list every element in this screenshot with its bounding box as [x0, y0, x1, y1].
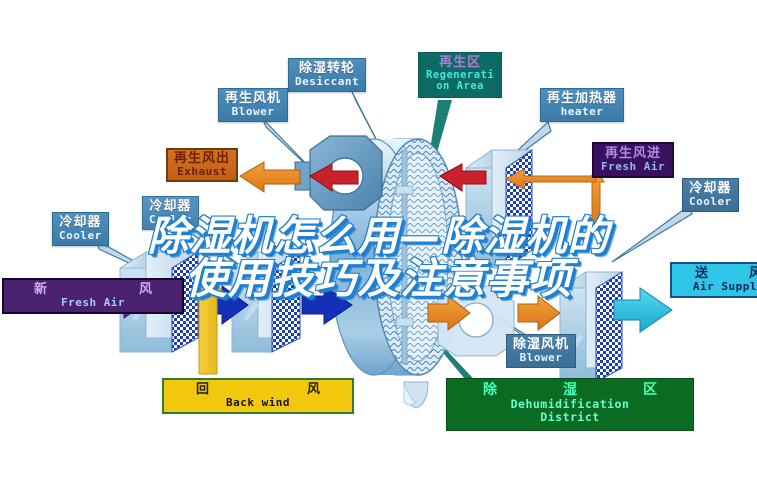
leader-cooler-right: [612, 205, 692, 262]
label-air-supply: 送 风 Air Supply: [670, 262, 757, 298]
label-cooler-left-a-en: Cooler: [59, 230, 102, 242]
label-cooler-left-b-cn: 冷却器: [149, 200, 192, 214]
label-regeneration-area-en-2: on Area: [426, 81, 494, 92]
label-back-wind: 回 风 Back wind: [162, 378, 354, 414]
label-cooler-right-en: Cooler: [689, 196, 732, 208]
label-regen-fresh-air-cn: 再生风进: [601, 147, 665, 161]
label-back-wind-cn: 回 风: [172, 383, 344, 397]
label-cooler-left-a: 冷却器 Cooler: [52, 212, 109, 246]
diagram-canvas: xt 除湿转轮 Desiccant 再生风机 Blower 再生风出 Exhau…: [0, 0, 757, 488]
label-desiccant-wheel-cn: 除湿转轮: [295, 62, 359, 76]
label-regen-blower-en: Blower: [225, 106, 281, 118]
label-regeneration-area-en-1: Regenerati: [426, 70, 494, 81]
label-dehum-district: 除 湿 区 Dehumidification District: [446, 378, 694, 431]
exhaust-arrow: [240, 162, 300, 192]
label-exhaust-en: Exhaust: [174, 166, 230, 178]
label-dehum-blower-en: Blower: [513, 352, 569, 364]
label-cooler-right-cn: 冷却器: [689, 182, 732, 196]
label-regen-heater-cn: 再生加热器: [547, 92, 617, 106]
label-regen-heater: 再生加热器 heater: [540, 88, 624, 122]
label-dehum-district-cn: 除 湿 区: [457, 383, 683, 398]
label-fresh-air-left-en: Fresh Air: [12, 297, 174, 309]
air-supply-arrow: [614, 288, 672, 332]
label-air-supply-en: Air Supply: [681, 281, 757, 293]
label-fresh-air-left: 新 风 Fresh Air: [2, 278, 184, 314]
label-dehum-district-en-2: District: [457, 411, 683, 424]
label-exhaust: 再生风出 Exhaust: [166, 148, 238, 182]
label-dehum-blower-cn: 除湿风机: [513, 338, 569, 352]
label-desiccant-wheel: 除湿转轮 Desiccant: [288, 58, 366, 92]
label-cooler-right: 冷却器 Cooler: [682, 178, 739, 212]
label-desiccant-wheel-en: Desiccant: [295, 76, 359, 88]
label-back-wind-en: Back wind: [172, 397, 344, 409]
dehum-out-arrow-2: [518, 296, 560, 330]
label-regen-blower: 再生风机 Blower: [218, 88, 288, 122]
label-regen-fresh-air-en: Fresh Air: [601, 161, 665, 173]
watermark-text: xt: [388, 312, 399, 326]
label-regen-heater-en: heater: [547, 106, 617, 118]
label-regen-fresh-air: 再生风进 Fresh Air: [592, 142, 674, 178]
drain-pan: [404, 382, 428, 408]
regen-heater-coil: [466, 150, 532, 268]
label-cooler-left-b: 冷却器 Cooler: [142, 196, 199, 230]
label-air-supply-cn: 送 风: [681, 267, 757, 281]
label-exhaust-cn: 再生风出: [174, 152, 230, 166]
label-regeneration-area: 再生区 Regenerati on Area: [418, 52, 502, 98]
label-regeneration-area-cn: 再生区: [426, 56, 494, 70]
label-fresh-air-left-cn: 新 风: [12, 283, 174, 297]
label-dehum-blower: 除湿风机 Blower: [506, 334, 576, 368]
label-cooler-left-a-cn: 冷却器: [59, 216, 102, 230]
label-cooler-left-b-en: Cooler: [149, 214, 192, 226]
regen-fresh-arrow-in: [506, 169, 596, 189]
label-regen-blower-cn: 再生风机: [225, 92, 281, 106]
label-dehum-district-en-1: Dehumidification: [457, 398, 683, 411]
